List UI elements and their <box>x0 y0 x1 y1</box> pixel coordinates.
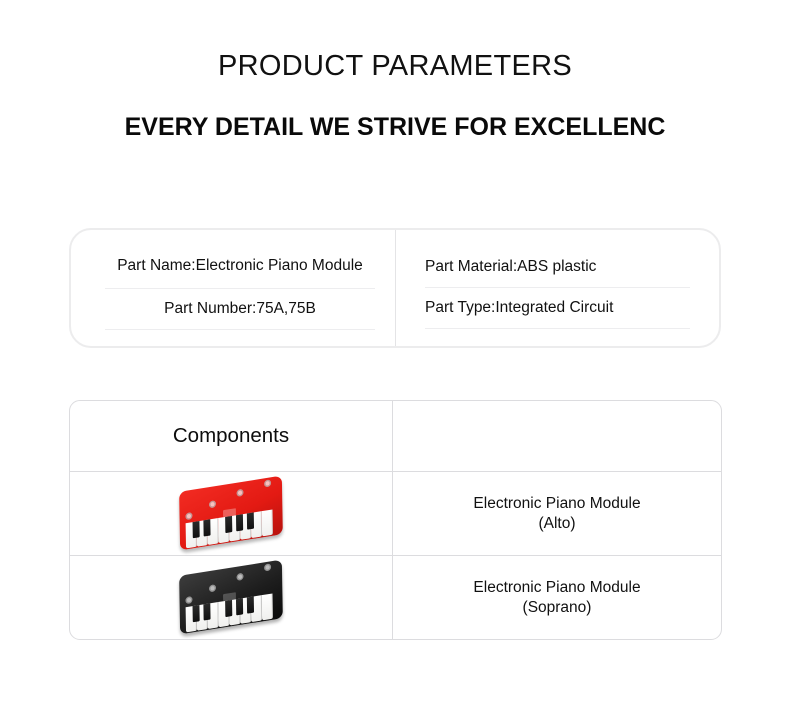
product-parameters-card: Part Name:Electronic Piano Module Part N… <box>69 228 721 348</box>
parameter-part-number: Part Number:75A,75B <box>105 289 375 330</box>
product-variant-label: (Soprano) <box>473 598 640 618</box>
red-electronic-piano-module-image <box>171 478 291 550</box>
parameter-part-type-label: Part Type:Integrated Circuit <box>425 299 613 317</box>
table-header-cell-empty <box>393 401 721 471</box>
parameter-part-number-label: Part Number:75A,75B <box>164 300 316 318</box>
table-cell-image-soprano <box>70 556 393 639</box>
components-table: Components <box>69 400 722 640</box>
parameter-part-material: Part Material:ABS plastic <box>425 247 690 288</box>
page-title: PRODUCT PARAMETERS <box>0 50 790 83</box>
parameter-part-material-label: Part Material:ABS plastic <box>425 258 596 276</box>
table-header-cell-components: Components <box>70 401 393 471</box>
product-name-label: Electronic Piano Module <box>473 495 640 512</box>
table-cell-image-alto <box>70 472 393 555</box>
table-row: Electronic Piano Module (Alto) <box>70 472 721 556</box>
table-header-label-components: Components <box>173 424 289 448</box>
parameter-part-name: Part Name:Electronic Piano Module <box>105 246 375 289</box>
parameters-column-left: Part Name:Electronic Piano Module Part N… <box>71 230 395 346</box>
parameter-part-name-label: Part Name:Electronic Piano Module <box>117 257 363 275</box>
parameters-column-right: Part Material:ABS plastic Part Type:Inte… <box>395 230 719 346</box>
page-subtitle: EVERY DETAIL WE STRIVE FOR EXCELLENC <box>0 113 790 142</box>
table-header-row: Components <box>70 401 721 472</box>
table-row: Electronic Piano Module (Soprano) <box>70 556 721 639</box>
table-cell-name-soprano: Electronic Piano Module (Soprano) <box>393 556 721 639</box>
parameter-part-type: Part Type:Integrated Circuit <box>425 288 690 329</box>
product-variant-label: (Alto) <box>473 514 640 534</box>
black-electronic-piano-module-image <box>171 562 291 634</box>
product-name-label: Electronic Piano Module <box>473 579 640 596</box>
table-cell-name-alto: Electronic Piano Module (Alto) <box>393 472 721 555</box>
